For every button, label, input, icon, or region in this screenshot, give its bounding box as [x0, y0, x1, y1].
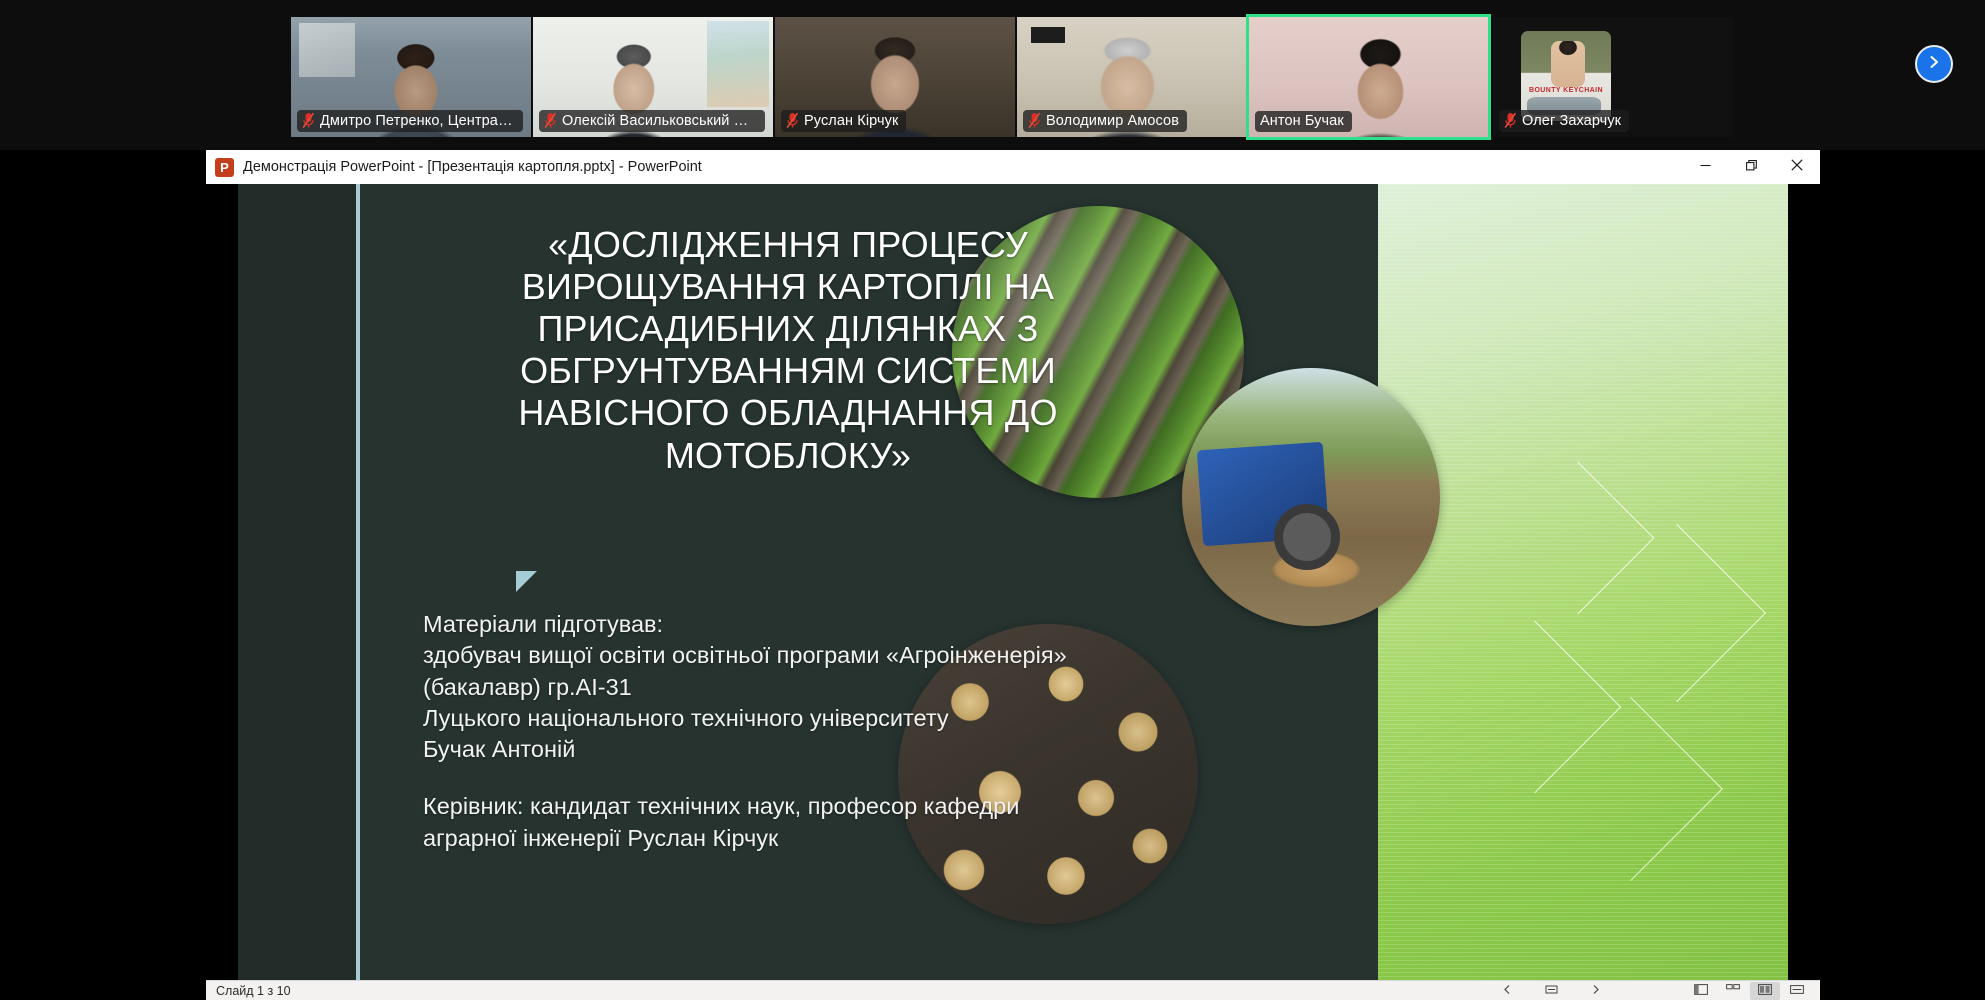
reading-view-icon [1758, 982, 1772, 1000]
participant-name: Олексій Васильковський ЦНТУ [562, 113, 757, 129]
window-title-bar[interactable]: P Демонстрація PowerPoint - [Презентація… [206, 150, 1820, 184]
video-tile-participant-5-active-speaker[interactable]: Антон Бучак [1246, 14, 1491, 140]
video-tile-participant-2[interactable]: Олексій Васильковський ЦНТУ [533, 17, 773, 137]
participant-name: Олег Захарчук [1522, 113, 1621, 129]
participant-name: Антон Бучак [1260, 113, 1344, 129]
close-button[interactable] [1774, 150, 1820, 184]
participant-name: Руслан Кірчук [804, 113, 898, 129]
tractor-wheel-shape [1274, 504, 1340, 570]
mic-off-icon [1504, 112, 1517, 129]
restore-button[interactable] [1728, 150, 1774, 184]
participant-name-badge: Руслан Кірчук [781, 110, 906, 132]
body-spacer [423, 765, 1213, 791]
avatar-figure [1551, 41, 1585, 87]
slide-title: «ДОСЛІДЖЕННЯ ПРОЦЕСУ ВИРОЩУВАННЯ КАРТОПЛ… [438, 224, 1138, 477]
participant-name: Володимир Амосов [1046, 113, 1179, 129]
powerpoint-status-bar: Слайд 1 з 10 [206, 980, 1820, 1000]
body-line: Луцького національного технічного універ… [423, 703, 1213, 734]
mic-off-icon [544, 112, 557, 129]
minimize-button[interactable] [1682, 150, 1728, 184]
slide-sorter-button[interactable] [1718, 982, 1748, 1000]
chevron-right-icon [1590, 982, 1601, 1000]
slideshow-button[interactable] [1782, 982, 1812, 1000]
previous-slide-button[interactable] [1492, 982, 1522, 1000]
participant-name-badge: Володимир Амосов [1023, 110, 1187, 132]
slide-left-strip [238, 184, 356, 984]
window-title: Демонстрація PowerPoint - [Презентація к… [243, 159, 702, 175]
reading-view-button[interactable] [1750, 982, 1780, 1000]
slideshow-icon [1790, 982, 1804, 1000]
participant-avatar-image: BOUNTY KEYCHAIN [1521, 31, 1611, 121]
pen-icon [1545, 982, 1558, 1000]
video-tile-participant-6[interactable]: BOUNTY KEYCHAIN Олег Захарчук [1493, 17, 1733, 137]
triangle-decoration-icon [516, 571, 537, 592]
slide-sorter-icon [1726, 982, 1740, 1000]
slide-counter-label: Слайд 1 з 10 [216, 984, 291, 998]
restore-icon [1746, 158, 1757, 176]
pen-tool-button[interactable] [1536, 982, 1566, 1000]
video-conference-strip: Дмитро Петренко, Центрально... Олексій В… [0, 0, 1985, 150]
close-icon [1791, 158, 1803, 176]
slideshow-nav-controls [1492, 981, 1610, 1000]
video-tile-participant-4[interactable]: Володимир Амосов [1017, 17, 1257, 137]
mic-off-icon [786, 112, 799, 129]
screen-root: Дмитро Петренко, Центрально... Олексій В… [0, 0, 1985, 1000]
mic-off-icon [302, 112, 315, 129]
body-line: аграрної інженерії Руслан Кірчук [423, 823, 1213, 854]
window-controls [1682, 150, 1820, 184]
minimize-icon [1700, 158, 1711, 176]
slide-green-panel [1378, 184, 1788, 984]
normal-view-icon [1694, 982, 1708, 1000]
slide-show-area[interactable]: «ДОСЛІДЖЕННЯ ПРОЦЕСУ ВИРОЩУВАННЯ КАРТОПЛ… [206, 184, 1820, 984]
next-slide-button[interactable] [1580, 982, 1610, 1000]
chevron-right-icon [1926, 54, 1942, 75]
next-participants-button[interactable] [1915, 45, 1953, 83]
slide-accent-line [356, 184, 360, 984]
avatar-caption-text: BOUNTY KEYCHAIN [1529, 87, 1603, 94]
video-tile-participant-1[interactable]: Дмитро Петренко, Центрально... [291, 17, 531, 137]
view-mode-controls [1686, 981, 1812, 1000]
participant-name-badge: Олексій Васильковський ЦНТУ [539, 110, 765, 132]
body-line: Матеріали підготував: [423, 609, 1213, 640]
body-line: здобувач вищої освіти освітньої програми… [423, 640, 1213, 671]
body-line: Бучак Антоній [423, 734, 1213, 765]
video-tile-participant-3[interactable]: Руслан Кірчук [775, 17, 1015, 137]
participant-name-badge: Антон Бучак [1255, 111, 1352, 132]
participant-name: Дмитро Петренко, Центрально... [320, 113, 515, 129]
participant-name-badge: Дмитро Петренко, Центрально... [297, 110, 523, 132]
slide-body-text: Матеріали підготував: здобувач вищої осв… [423, 609, 1213, 854]
powerpoint-window: P Демонстрація PowerPoint - [Презентація… [206, 150, 1820, 1000]
body-line: (бакалавр) гр.АІ-31 [423, 672, 1213, 703]
walk-behind-tractor-photo [1182, 368, 1440, 626]
normal-view-button[interactable] [1686, 982, 1716, 1000]
mic-off-icon [1028, 112, 1041, 129]
powerpoint-icon: P [215, 158, 234, 177]
slide-canvas: «ДОСЛІДЖЕННЯ ПРОЦЕСУ ВИРОЩУВАННЯ КАРТОПЛ… [238, 184, 1788, 984]
body-line: Керівник: кандидат технічних наук, профе… [423, 791, 1213, 822]
participant-name-badge: Олег Захарчук [1499, 110, 1629, 132]
chevron-left-icon [1502, 982, 1513, 1000]
